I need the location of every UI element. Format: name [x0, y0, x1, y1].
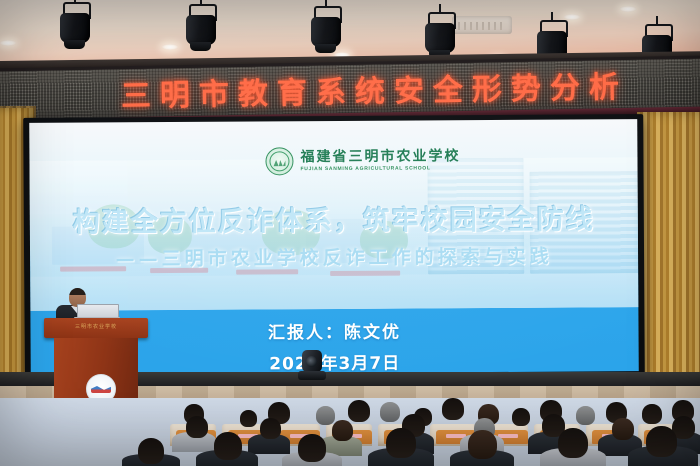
- school-name-en: FUJIAN SANMING AGRICULTURAL SCHOOL: [301, 165, 461, 172]
- ceiling-downlight: [334, 52, 350, 58]
- audience-person: [558, 428, 588, 458]
- audience-person: [380, 402, 400, 422]
- conference-hall-photo: 三明市教育系统安全形势分析: [0, 0, 700, 466]
- audience-person: [240, 410, 257, 427]
- audience-person: [214, 432, 242, 460]
- audience-person: [348, 400, 370, 422]
- ceiling-downlight: [564, 14, 580, 20]
- audience-person: [260, 418, 281, 439]
- curtain-right: [637, 112, 700, 412]
- school-logo: 福建省三明市农业学校 FUJIAN SANMING AGRICULTURAL S…: [265, 146, 460, 175]
- podium-top: 三明市农业学校: [44, 318, 148, 338]
- slide-subtitle: ——三明市农业学校反诈工作的探索与实践: [30, 241, 638, 272]
- audience-person: [186, 416, 208, 438]
- led-banner-text: 三明市教育系统安全形势分析: [0, 73, 628, 115]
- school-seal-icon: [265, 147, 293, 175]
- audience-person: [442, 398, 464, 420]
- audience-person: [316, 406, 335, 425]
- ceiling-downlight: [162, 44, 178, 50]
- ceiling-air-vent: [452, 16, 512, 34]
- floor-moving-light: [298, 350, 326, 380]
- audience-person: [612, 418, 634, 440]
- audience-person: [512, 408, 530, 426]
- audience-person: [646, 426, 677, 457]
- podium-front-text: 三明市农业学校: [52, 323, 140, 330]
- ceiling-downlight: [620, 6, 636, 12]
- audience-person: [468, 430, 497, 459]
- school-name-cn: 福建省三明市农业学校: [300, 149, 460, 165]
- audience-person: [138, 438, 164, 464]
- audience-person: [332, 420, 353, 441]
- audience-person: [298, 434, 326, 462]
- ceiling-downlight: [0, 40, 16, 46]
- audience-person: [642, 404, 662, 424]
- audience-person: [576, 406, 595, 425]
- slide-title: 构建全方位反诈体系，筑牢校园安全防线: [30, 197, 638, 240]
- seated-audience: [0, 398, 700, 466]
- audience-person: [386, 428, 416, 458]
